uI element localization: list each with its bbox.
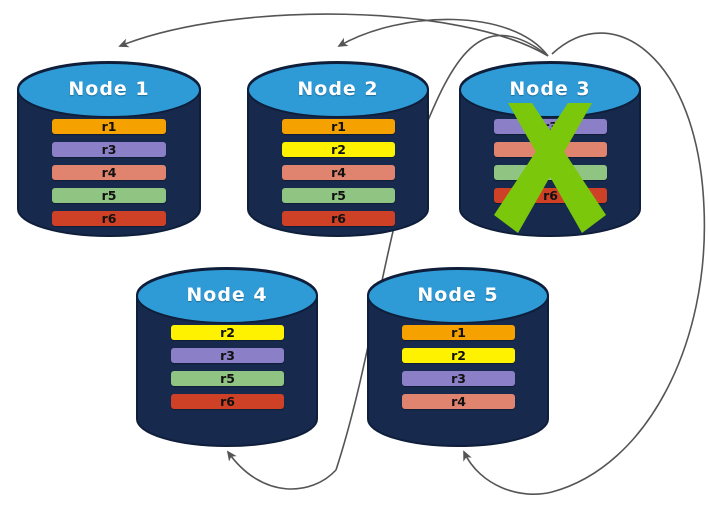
record-bar-r3[interactable]: r3: [494, 119, 607, 134]
cylinder-top: [248, 63, 428, 117]
record-bar-r2[interactable]: r2: [171, 325, 284, 340]
database-node-4[interactable]: Node 4r2r3r5r6: [136, 268, 318, 448]
record-bar-r3[interactable]: r3: [52, 142, 166, 157]
record-bar-r5[interactable]: r5: [282, 188, 395, 203]
record-bar-r6[interactable]: r6: [494, 188, 607, 203]
record-bar-r5[interactable]: r5: [494, 165, 607, 180]
record-bar-r1[interactable]: r1: [52, 119, 166, 134]
database-node-2[interactable]: Node 2r1r2r4r5r6: [247, 62, 429, 238]
cylinder-top: [460, 63, 640, 117]
cylinder-top: [137, 269, 317, 323]
record-bar-r6[interactable]: r6: [171, 394, 284, 409]
record-bar-r1[interactable]: r1: [402, 325, 515, 340]
record-bar-r5[interactable]: r5: [171, 371, 284, 386]
record-bar-r5[interactable]: r5: [52, 188, 166, 203]
node-layer: Node 1r1r3r4r5r6Node 2r1r2r4r5r6Node 3r3…: [0, 0, 708, 508]
record-bar-r2[interactable]: r2: [282, 142, 395, 157]
cylinder-top: [18, 63, 200, 117]
database-node-1[interactable]: Node 1r1r3r4r5r6: [17, 62, 201, 238]
record-bar-r3[interactable]: r3: [402, 371, 515, 386]
record-bar-r1[interactable]: r1: [282, 119, 395, 134]
database-node-5[interactable]: Node 5r1r2r3r4: [367, 268, 549, 448]
cylinder-top: [368, 269, 548, 323]
database-node-3[interactable]: Node 3r3r4r5r6: [459, 62, 641, 238]
diagram-canvas: Node 1r1r3r4r5r6Node 2r1r2r4r5r6Node 3r3…: [0, 0, 708, 508]
record-bar-r6[interactable]: r6: [52, 211, 166, 226]
record-bar-r2[interactable]: r2: [402, 348, 515, 363]
record-bar-r4[interactable]: r4: [52, 165, 166, 180]
record-bar-r4[interactable]: r4: [282, 165, 395, 180]
record-bar-r4[interactable]: r4: [402, 394, 515, 409]
record-bar-r4[interactable]: r4: [494, 142, 607, 157]
record-bar-r6[interactable]: r6: [282, 211, 395, 226]
record-bar-r3[interactable]: r3: [171, 348, 284, 363]
